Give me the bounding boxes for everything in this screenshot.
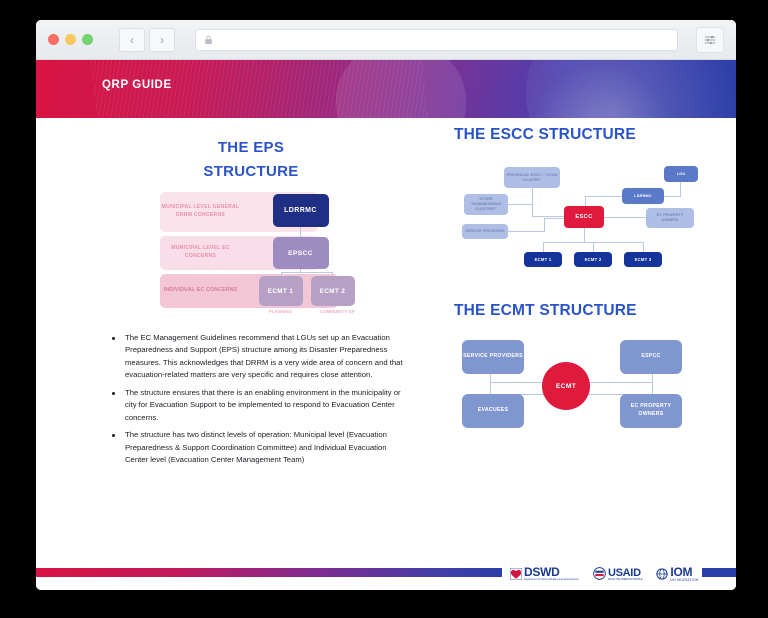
eps-band-label: MUNICIPAL LEVEL EC CONCERNS	[160, 245, 242, 261]
back-button[interactable]: ‹	[119, 28, 145, 52]
dswd-subtext: Department of Social Welfare and Develop…	[524, 579, 579, 582]
escc-connector-ldrrmc-lgu	[664, 196, 681, 197]
ecmt-structure-diagram: SERVICE PROVIDERS ESPCC EVACUEES EC PROP…	[454, 332, 704, 442]
ecmt-section-title: THE ECMT STRUCTURE	[454, 302, 704, 320]
iom-globe-icon	[656, 568, 668, 580]
document-page: QRP GUIDE THE EPS STRUCTURE MUNICIPAL LE…	[36, 60, 736, 590]
escc-connector-other-down	[532, 204, 533, 217]
footer-gradient-bar-left	[36, 568, 502, 577]
banner-shape-a	[336, 60, 466, 118]
escc-connector-prov-in	[532, 216, 565, 217]
escc-connector-lgu-down	[680, 182, 681, 196]
list-item: The EC Management Guidelines recommend t…	[112, 332, 406, 382]
forward-button[interactable]: ›	[149, 28, 175, 52]
usaid-wordmark: USAID	[608, 567, 642, 579]
eps-section-title: THE EPS STRUCTURE	[96, 136, 406, 184]
escc-box-ec-property-owners: EC PROPERTY OWNERS	[646, 208, 694, 228]
escc-structure-diagram: PROVINCIAL ESCC / “CCCM CLUSTER” OTHER “…	[454, 154, 704, 284]
eps-band-label: INDIVIDUAL EC CONCERNS	[160, 287, 242, 295]
escc-box-lgu: LGU	[664, 166, 698, 182]
escc-connector-escc-ldrrmc	[585, 196, 623, 197]
browser-window: ‹ ›	[36, 20, 736, 590]
right-column: THE ESCC STRUCTURE	[454, 126, 704, 442]
eps-connector-ldrrmc-epscc	[300, 227, 301, 237]
eps-bullet-list: The EC Management Guidelines recommend t…	[96, 332, 406, 467]
eps-sublabel-planning: PLANNING	[259, 309, 303, 314]
lock-icon	[204, 35, 213, 45]
eps-title-line-2: STRUCTURE	[96, 160, 406, 184]
escc-box-service-providers: SERVICE PROVIDERS	[462, 224, 508, 239]
escc-box-other-clusters: OTHER “HUMANITARIAN CLUSTERS”	[464, 194, 508, 215]
usaid-logo: USAID FROM THE AMERICAN PEOPLE	[593, 567, 642, 582]
chevron-left-icon: ‹	[130, 34, 134, 46]
banner-title: QRP GUIDE	[102, 79, 172, 91]
eps-connector-horizontal	[281, 272, 333, 273]
footer-gradient-bar-right	[702, 568, 736, 577]
list-item: The structure has two distinct levels of…	[112, 429, 406, 466]
dswd-heart-icon	[510, 568, 522, 580]
screenshot-stage: ‹ ›	[0, 0, 768, 618]
escc-box-ecmt2: ECMT 2	[574, 252, 612, 267]
close-window-button[interactable]	[48, 34, 59, 45]
dswd-logo: DSWD Department of Social Welfare and De…	[510, 566, 579, 582]
ecmt-box-service-providers: SERVICE PROVIDERS	[462, 340, 524, 374]
navigation-buttons: ‹ ›	[119, 28, 175, 52]
dswd-text-block: DSWD Department of Social Welfare and De…	[524, 566, 579, 582]
usaid-text-block: USAID FROM THE AMERICAN PEOPLE	[608, 567, 642, 582]
ecmt-center-node: ECMT	[542, 362, 590, 410]
escc-connector-other-in	[508, 204, 532, 205]
eps-node-ecmt2: ECMT 2	[311, 276, 355, 306]
eps-node-epscc: EPSCC	[273, 237, 329, 269]
eps-node-ldrrmc: LDRRMC	[273, 194, 329, 227]
eps-structure-diagram: MUNICIPAL LEVEL GENERAL DRRM CONCERNS MU…	[160, 192, 343, 314]
page-banner: QRP GUIDE	[36, 60, 736, 118]
iom-wordmark: IOM	[670, 566, 698, 579]
page-content: THE EPS STRUCTURE MUNICIPAL LEVEL GENERA…	[36, 118, 736, 558]
minimize-window-button[interactable]	[65, 34, 76, 45]
eps-title-line-1: THE EPS	[96, 136, 406, 160]
ecmt-box-espcc: ESPCC	[620, 340, 682, 374]
browser-toolbar: ‹ ›	[36, 20, 736, 60]
escc-box-ecmt3: ECMT 3	[624, 252, 662, 267]
iom-subtext: UN MIGRATION	[670, 579, 698, 583]
escc-connector-escc-owners	[604, 217, 646, 218]
escc-box-provincial: PROVINCIAL ESCC / “CCCM CLUSTER”	[504, 167, 560, 188]
eps-node-ecmt1: ECMT 1	[259, 276, 303, 306]
usaid-seal-icon	[593, 567, 606, 580]
ecmt-connector-espcc-in	[588, 382, 652, 383]
escc-box-escc: ESCC	[564, 206, 604, 228]
escc-connector-svc-right	[544, 218, 565, 219]
eps-band-label: MUNICIPAL LEVEL GENERAL DRRM CONCERNS	[160, 204, 242, 220]
escc-box-ldrrmc: LDRRMC	[622, 188, 664, 204]
browser-menu-button[interactable]	[696, 27, 724, 53]
escc-section-title: THE ESCC STRUCTURE	[454, 126, 704, 144]
address-bar[interactable]	[195, 29, 678, 51]
left-column: THE EPS STRUCTURE MUNICIPAL LEVEL GENERA…	[96, 136, 406, 483]
sliders-icon	[704, 34, 716, 46]
window-controls[interactable]	[48, 34, 93, 45]
usaid-subtext: FROM THE AMERICAN PEOPLE	[608, 579, 642, 582]
ecmt-box-ec-property-owners: EC PROPERTY OWNERS	[620, 394, 682, 428]
escc-connector-svc-up	[544, 218, 545, 232]
ecmt-connector-svc-in	[490, 382, 544, 383]
escc-connector-svc-in	[508, 231, 544, 232]
eps-sublabel-community: COMMUNITY GP	[311, 309, 365, 314]
list-item: The structure ensures that there is an e…	[112, 387, 406, 424]
footer-logos: DSWD Department of Social Welfare and De…	[502, 558, 702, 590]
page-footer: DSWD Department of Social Welfare and De…	[36, 558, 736, 590]
maximize-window-button[interactable]	[82, 34, 93, 45]
escc-connector-escc-down	[584, 228, 585, 242]
iom-logo: IOM UN MIGRATION	[656, 566, 698, 583]
chevron-right-icon: ›	[160, 34, 164, 46]
escc-box-ecmt1: ECMT 1	[524, 252, 562, 267]
ecmt-box-evacuees: EVACUEES	[462, 394, 524, 428]
iom-text-block: IOM UN MIGRATION	[670, 566, 698, 583]
